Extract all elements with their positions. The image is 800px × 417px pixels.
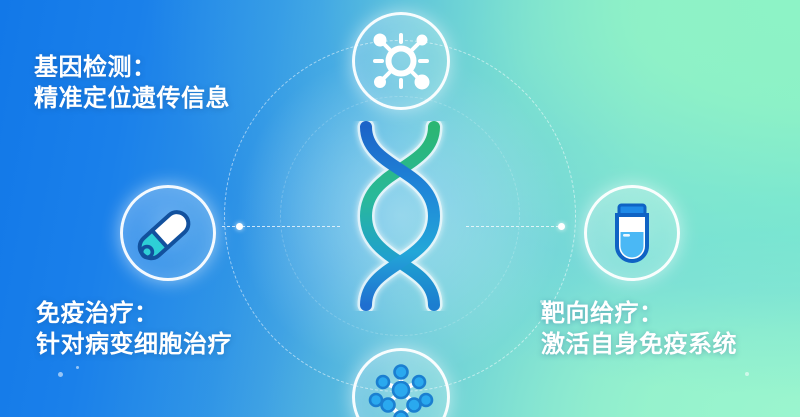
caption-line-2: 激活自身免疫系统 xyxy=(541,329,737,360)
caption-targeted-therapy: 靶向给疗： 激活自身免疫系统 xyxy=(541,298,737,360)
caption-gene-testing: 基因检测： 精准定位遗传信息 xyxy=(34,52,230,114)
virus-molecule-icon xyxy=(369,29,433,93)
badge-virus-molecule[interactable] xyxy=(352,12,450,110)
dna-double-helix-icon xyxy=(341,121,459,311)
caption-line-1: 靶向给疗： xyxy=(541,298,737,329)
molecule-network-icon xyxy=(368,364,434,417)
caption-line-1: 基因检测： xyxy=(34,52,230,83)
caption-immunotherapy: 免疫治疗： 针对病变细胞治疗 xyxy=(36,298,232,360)
sparkle-dot xyxy=(76,366,79,369)
sparkle-dot xyxy=(58,372,63,377)
caption-line-2: 精准定位遗传信息 xyxy=(34,83,230,114)
badge-capsule-pill[interactable] xyxy=(120,185,216,281)
sparkle-dot xyxy=(745,372,749,376)
connector-line-right xyxy=(466,226,564,227)
connector-dot-left xyxy=(236,223,243,230)
capsule-pill-icon xyxy=(137,202,199,264)
connector-dot-right xyxy=(558,223,565,230)
caption-line-2: 针对病变细胞治疗 xyxy=(36,329,232,360)
test-tube-icon xyxy=(603,202,661,264)
infographic-canvas: 基因检测： 精准定位遗传信息 免疫治疗： 针对病变细胞治疗 靶向给疗： 激活自身… xyxy=(0,0,800,417)
caption-line-1: 免疫治疗： xyxy=(36,298,232,329)
badge-test-tube[interactable] xyxy=(584,185,680,281)
